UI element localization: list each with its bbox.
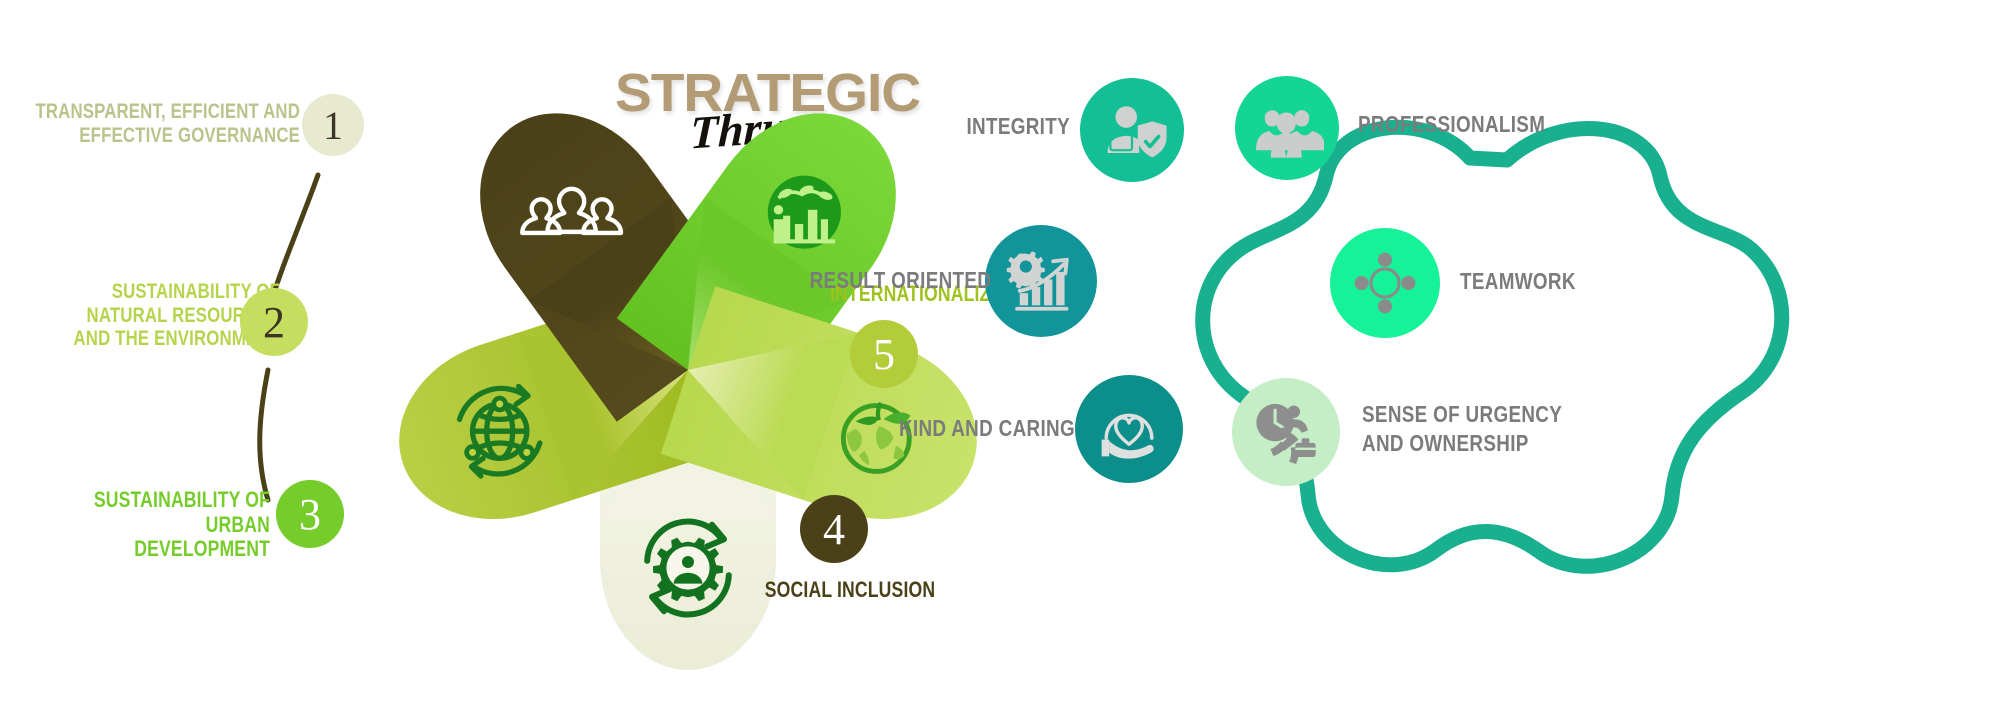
people-group-icon [1235,76,1339,180]
strategic-thrust-panel: STRATEGIC Thrust [0,0,1000,706]
green-city-icon [734,140,874,280]
value-integrity-label: INTEGRITY [922,113,1070,141]
clock-running-person-icon [1232,378,1340,486]
value-teamwork-label: TEAMWORK [1460,268,1673,296]
value-professionalism-label: PROFESSIONALISM [1358,111,1620,139]
value-result-oriented-label: RESULT ORIENTED [810,267,990,295]
globe-network-icon [430,361,570,501]
thrust-label-1: TRANSPARENT, EFFICIENT AND EFFECTIVE GOV… [28,100,300,147]
thrust-number-5[interactable]: 5 [850,320,918,388]
value-sense-of-urgency-label: SENSE OF URGENCY AND OWNERSHIP [1362,400,1633,458]
thrust-label-4: SOCIAL INCLUSION [730,578,970,603]
hand-heart-icon [1075,375,1183,483]
teamwork-circle-icon [1330,228,1440,338]
three-people-icon [502,140,642,280]
infographic-canvas: STRATEGIC Thrust [0,0,2000,706]
thrust-number-4[interactable]: 4 [800,495,868,563]
thrust-number-1[interactable]: 1 [302,94,364,156]
gear-growth-chart-icon [985,225,1097,337]
thrust-number-3[interactable]: 3 [276,480,344,548]
thrust-number-2[interactable]: 2 [240,288,308,356]
shared-values-panel: 6 SHARED VALUES INTEGRITY [1000,0,2000,706]
thrust-label-3: SUSTAINABILITY OF URBAN DEVELOPMENT [70,488,270,562]
gear-person-cycle-icon [618,498,758,638]
value-kind-and-caring-label: KIND AND CARING [895,415,1075,443]
person-shield-icon [1080,78,1184,182]
